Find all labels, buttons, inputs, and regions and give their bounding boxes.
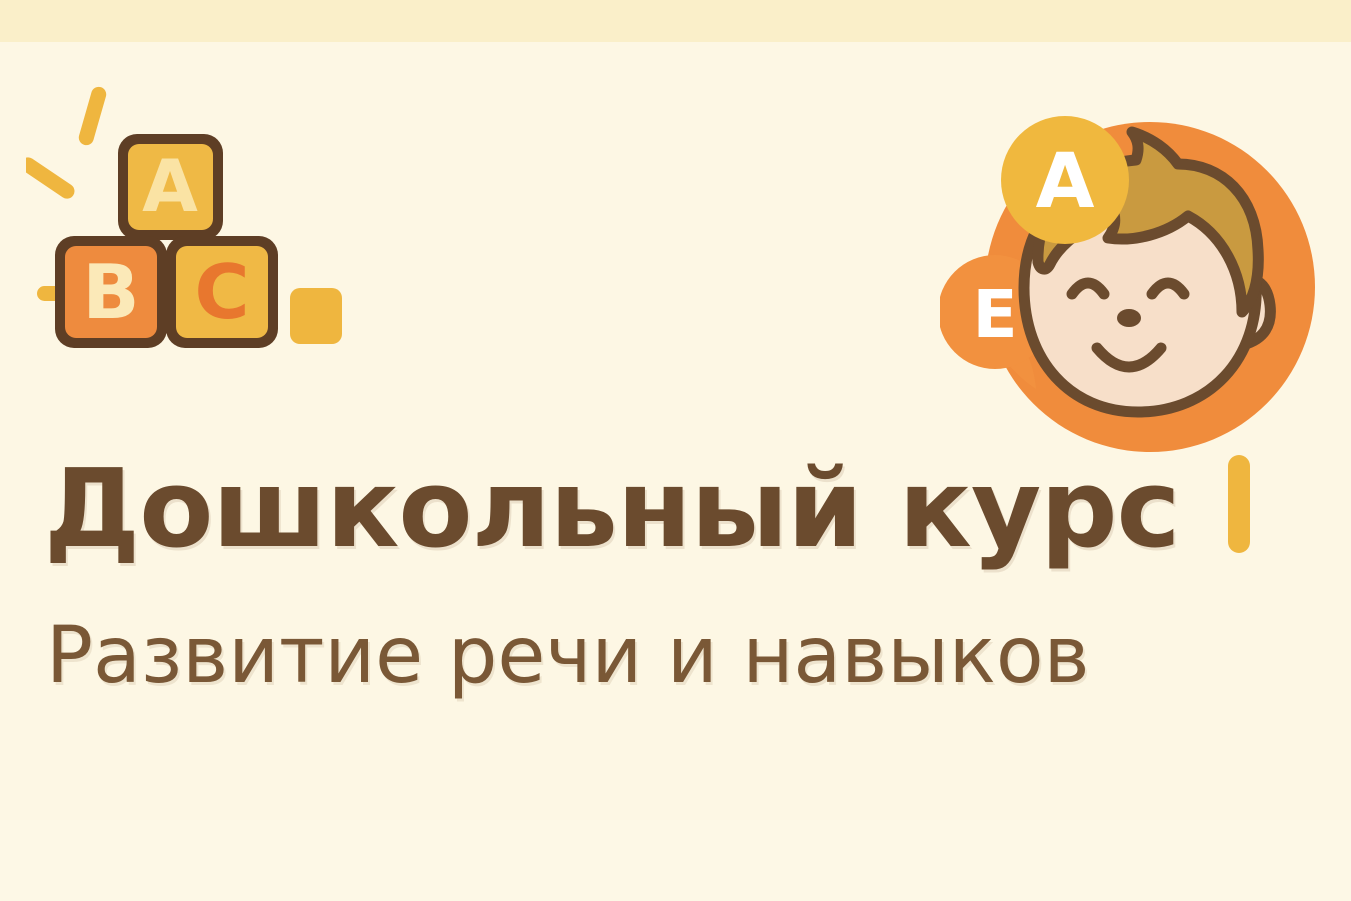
abc-blocks-illustration: A B C xyxy=(26,70,356,370)
block-a-letter: A xyxy=(142,144,198,228)
text-cursor-bar xyxy=(1228,455,1250,553)
bubble-a: A xyxy=(1001,116,1129,244)
poster-canvas: A B C E xyxy=(0,0,1351,901)
subtitle-row: Развитие речи и навыков xyxy=(46,606,1296,706)
bubble-a-letter: A xyxy=(1036,136,1095,225)
block-b: B xyxy=(55,236,167,348)
page-subtitle: Развитие речи и навыков xyxy=(46,617,1090,695)
bubble-e-letter: E xyxy=(972,276,1017,353)
child-face-illustration: E A xyxy=(940,112,1320,472)
loose-square xyxy=(290,288,342,344)
nose xyxy=(1117,309,1141,327)
background-top-band xyxy=(0,0,1351,42)
block-a: A xyxy=(118,134,223,240)
block-c-letter: C xyxy=(194,248,249,336)
page-title: Дошкольный курс xyxy=(44,456,1180,564)
background-bottom-band xyxy=(0,820,1351,901)
block-c: C xyxy=(166,236,278,348)
title-row: Дошкольный курс xyxy=(44,440,1294,580)
block-b-letter: B xyxy=(82,248,139,336)
